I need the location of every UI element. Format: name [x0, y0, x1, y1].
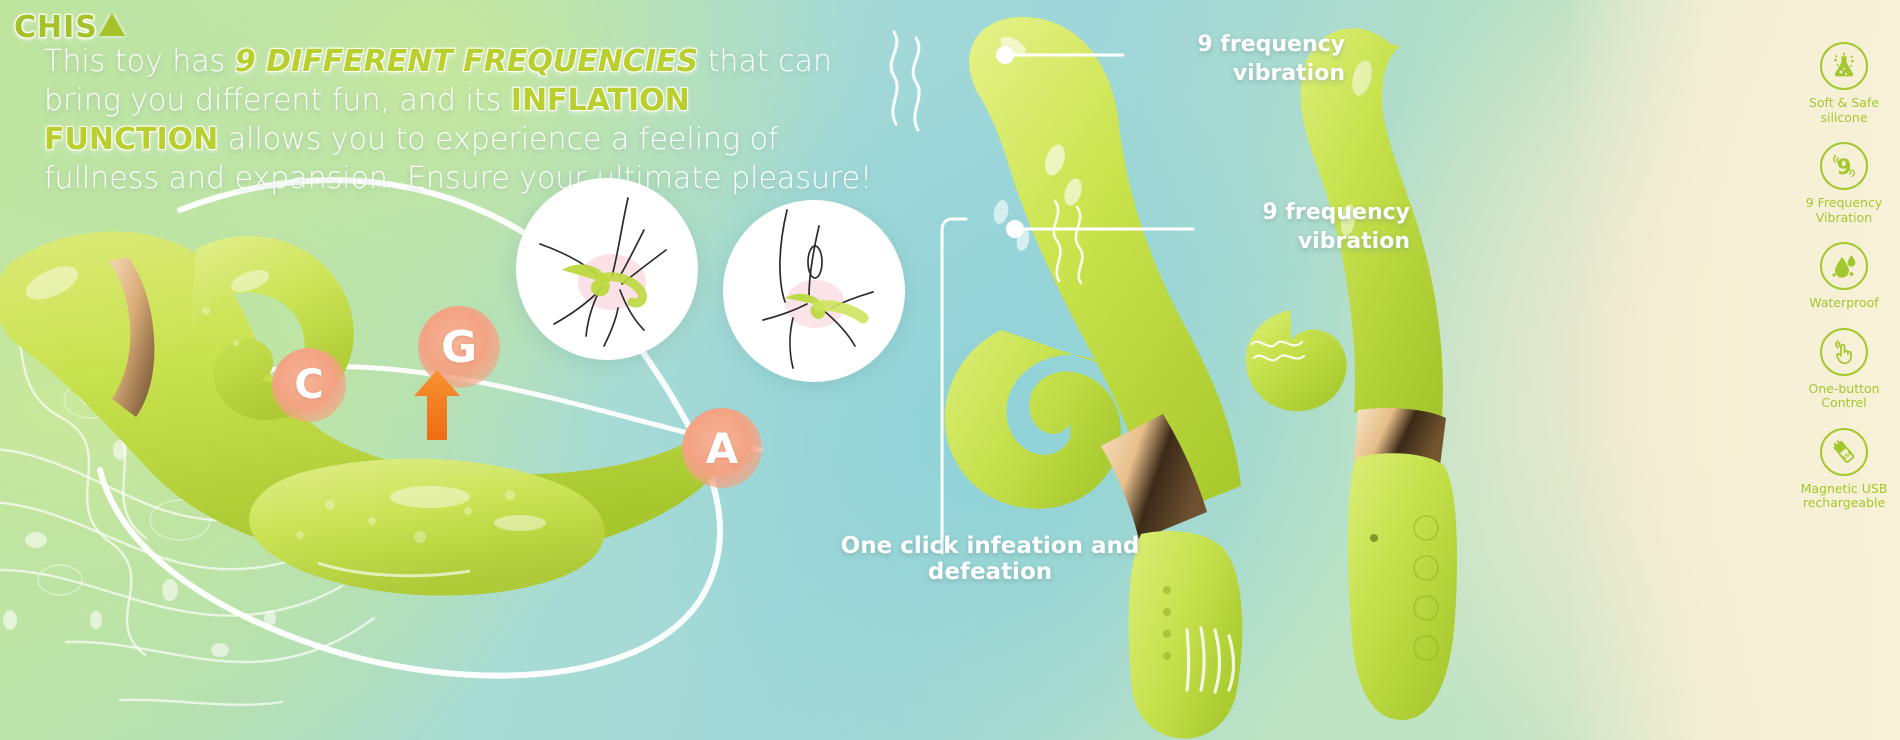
feature-list: Soft & Safe silicone 9 9 Frequency Vibra… [1788, 42, 1900, 712]
marker-a-label: A [706, 424, 739, 473]
headline-highlight-frequencies: 9 DIFFERENT FREQUENCIES [235, 44, 698, 79]
feature-label-one-button-control: One-button Contrel [1808, 382, 1879, 411]
callout-label-top: 9 frequency vibration [1055, 30, 1345, 88]
banner-stage: CHIS This toy has 9 DIFFERENT FREQUENCIE… [0, 0, 1900, 740]
feature-item-one-button-control: One-button Contrel [1788, 328, 1900, 411]
marker-a: A [682, 408, 762, 488]
touch-button-icon [1820, 328, 1868, 376]
nine-glyph: 9 [1837, 155, 1852, 179]
feature-item-9-frequency-vibration: 9 9 Frequency Vibration [1788, 142, 1900, 225]
feature-item-soft-safe-silicone: Soft & Safe silicone [1788, 42, 1900, 125]
nine-frequency-icon: 9 [1820, 142, 1868, 190]
waterdrop-icon [1820, 242, 1868, 290]
bottom-caption: One click infeation and defeation [790, 533, 1190, 585]
feature-label-waterproof: Waterproof [1809, 296, 1878, 311]
flask-icon [1820, 42, 1868, 90]
headline-part-1: This toy has [44, 44, 235, 79]
usb-glyph-text: USB [1841, 449, 1854, 462]
inflation-up-arrow-icon [414, 370, 460, 440]
feature-label-9-frequency-vibration: 9 Frequency Vibration [1806, 196, 1883, 225]
usage-illustration-2 [723, 200, 905, 382]
product-image-right-2 [1230, 20, 1710, 740]
usage-illustration-1 [516, 178, 698, 360]
feature-item-magnetic-usb-rechargeable: USB Magnetic USB rechargeable [1788, 428, 1900, 511]
usb-plug-icon: USB [1820, 428, 1868, 476]
vibration-waves-icon-3 [1250, 332, 1308, 370]
brand-logo: CHIS [14, 10, 125, 45]
headline-paragraph: This toy has 9 DIFFERENT FREQUENCIES tha… [44, 42, 874, 198]
marker-c-label: C [294, 362, 323, 408]
feature-label-magnetic-usb-rechargeable: Magnetic USB rechargeable [1801, 482, 1888, 511]
vibration-waves-icon-1 [880, 28, 940, 138]
feature-label-soft-safe-silicone: Soft & Safe silicone [1809, 96, 1879, 125]
marker-g-label: G [441, 322, 477, 373]
leader-line-3 [930, 215, 970, 560]
brand-logo-text: CHIS [14, 10, 98, 45]
marker-c: C [272, 348, 346, 422]
callout-label-mid: 9 frequency vibration [1120, 198, 1410, 256]
triangle-a-icon [99, 13, 125, 36]
feature-item-waterproof: Waterproof [1788, 242, 1900, 311]
